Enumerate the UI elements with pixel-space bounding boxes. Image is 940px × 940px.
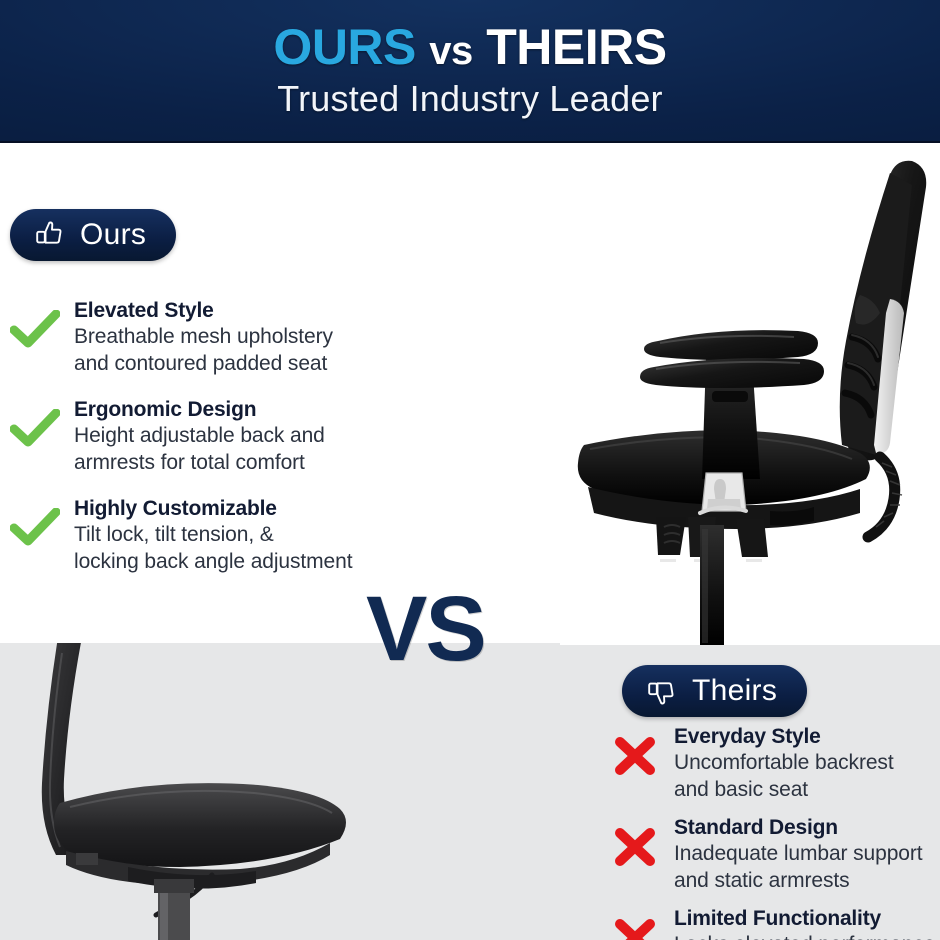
theirs-chair-photo [0, 643, 400, 940]
check-icon [8, 494, 62, 548]
list-item: Elevated Style Breathable mesh upholster… [8, 296, 408, 378]
comparison-infographic: OURS vs THEIRS Trusted Industry Leader [0, 0, 940, 940]
list-item: Highly Customizable Tilt lock, tilt tens… [8, 494, 408, 576]
list-item: Ergonomic Design Height adjustable back … [8, 395, 408, 477]
check-icon [8, 296, 62, 350]
cross-icon [608, 722, 662, 776]
list-item: Everyday Style Uncomfortable backrest an… [608, 722, 940, 804]
feature-title: Highly Customizable [74, 496, 352, 522]
list-item: Limited Functionality Lacks elevated per… [608, 904, 940, 940]
ours-badge-label: Ours [80, 218, 146, 252]
feature-desc-line1: Uncomfortable backrest [674, 750, 894, 777]
list-item: Standard Design Inadequate lumbar suppor… [608, 813, 940, 895]
feature-title: Everyday Style [674, 724, 894, 750]
check-icon [8, 395, 62, 449]
title-theirs: THEIRS [486, 19, 666, 75]
page-subtitle: Trusted Industry Leader [277, 78, 662, 120]
feature-desc-line2: and basic seat [674, 777, 894, 804]
cross-icon [608, 904, 662, 940]
title-ours: OURS [273, 19, 415, 75]
feature-desc-line1: Breathable mesh upholstery [74, 324, 333, 351]
feature-desc-line2: and contoured padded seat [74, 351, 333, 378]
feature-desc-line1: Height adjustable back and [74, 423, 325, 450]
thumbs-down-icon [646, 675, 678, 707]
feature-title: Ergonomic Design [74, 397, 325, 423]
feature-desc-line2: armrests for total comfort [74, 450, 325, 477]
feature-desc-line1: Inadequate lumbar support [674, 841, 923, 868]
vs-badge: VS [366, 583, 485, 675]
header-banner: OURS vs THEIRS Trusted Industry Leader [0, 0, 940, 143]
cross-icon [608, 813, 662, 867]
page-title: OURS vs THEIRS [273, 21, 666, 74]
thumbs-up-icon [34, 219, 66, 251]
title-vs: vs [429, 29, 473, 73]
theirs-feature-list: Everyday Style Uncomfortable backrest an… [608, 722, 940, 940]
ours-chair-photo [560, 145, 940, 645]
feature-title: Elevated Style [74, 298, 333, 324]
ours-badge[interactable]: Ours [10, 209, 176, 261]
theirs-badge[interactable]: Theirs [622, 665, 807, 717]
feature-title: Standard Design [674, 815, 923, 841]
feature-title: Limited Functionality [674, 906, 935, 932]
background-artifact-text [14, 152, 574, 188]
feature-desc-line2: and static armrests [674, 868, 923, 895]
theirs-badge-label: Theirs [692, 674, 777, 708]
feature-desc-line1: Lacks elevated performance [674, 932, 935, 940]
feature-desc-line1: Tilt lock, tilt tension, & [74, 522, 352, 549]
ours-feature-list: Elevated Style Breathable mesh upholster… [8, 296, 408, 593]
feature-desc-line2: locking back angle adjustment [74, 549, 352, 576]
